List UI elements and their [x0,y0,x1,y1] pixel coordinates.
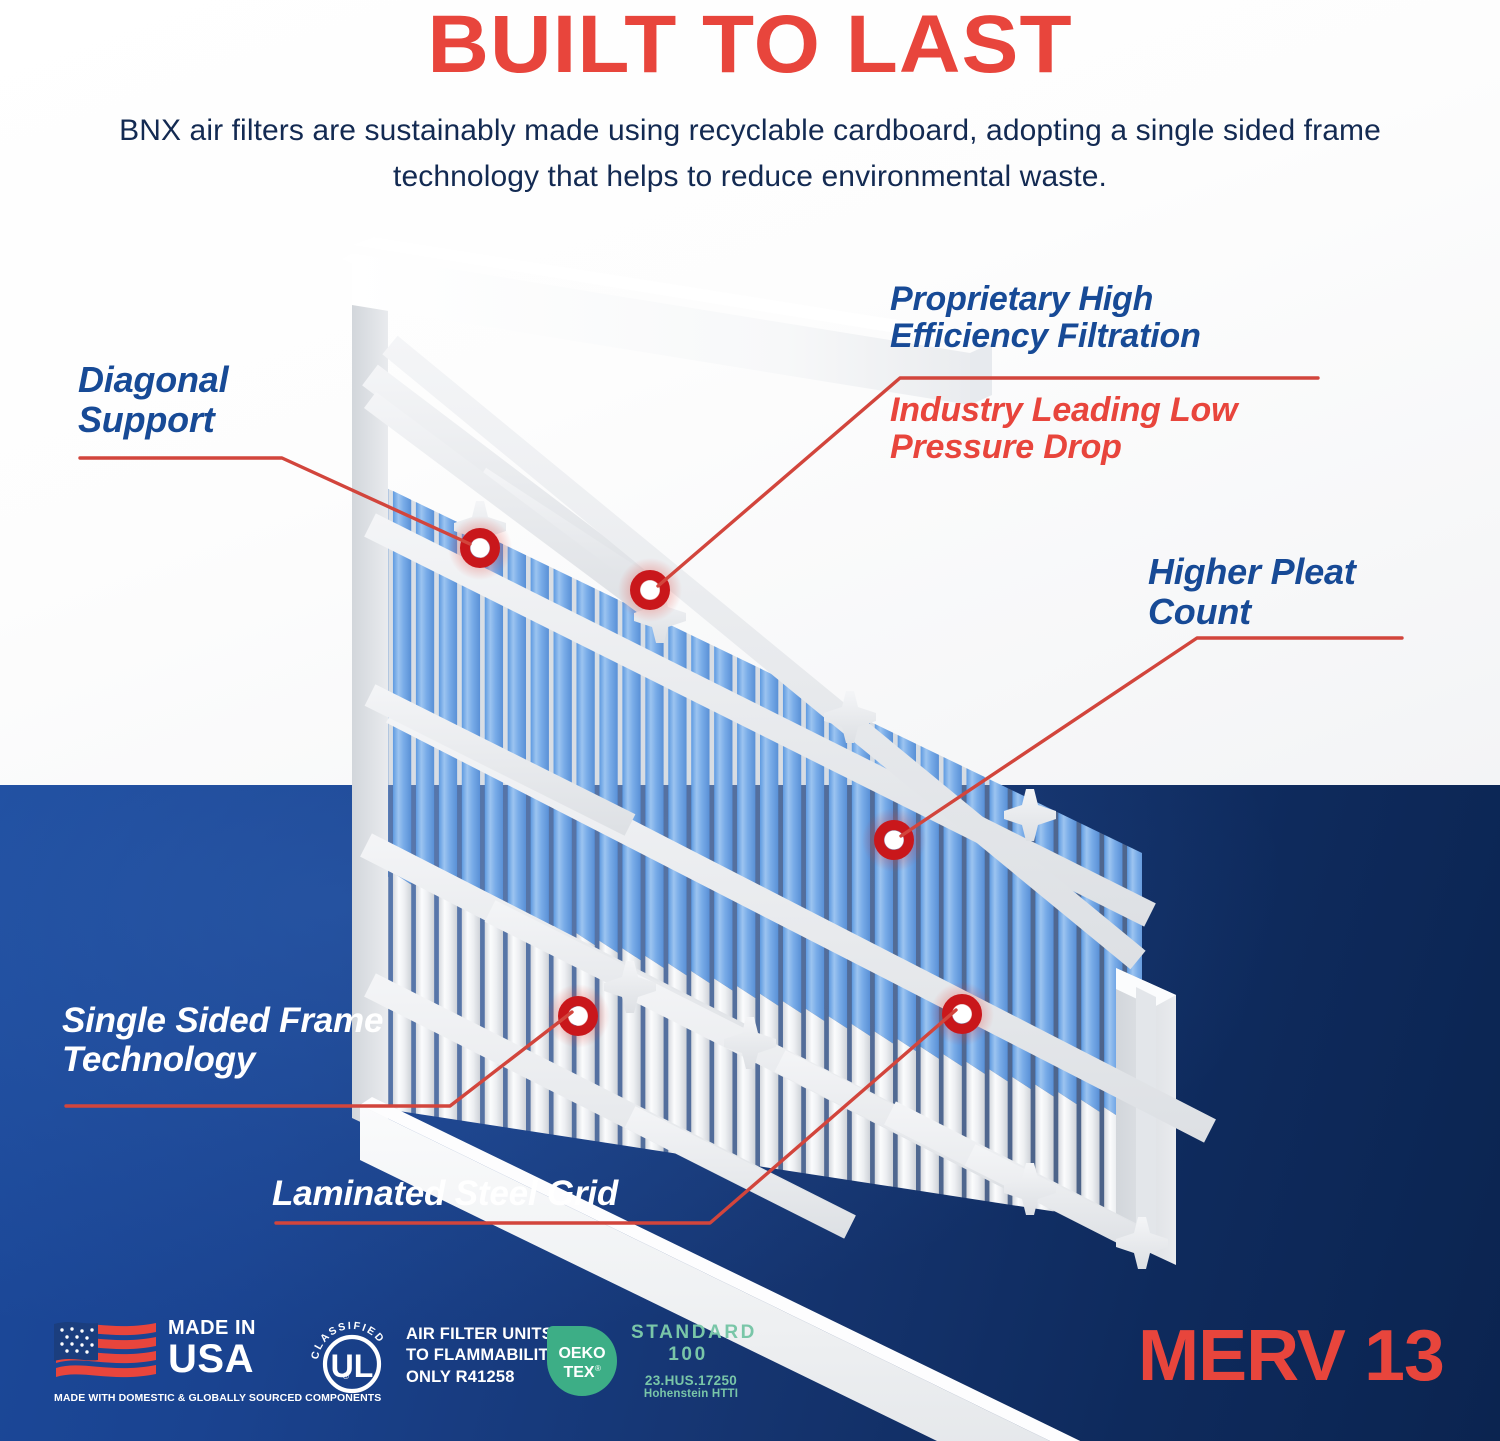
badge-made-in-usa: MADE IN USA MADE WITH DOMESTIC & GLOBALL… [52,1316,256,1382]
svg-text:TEX: TEX [563,1364,594,1381]
ul-classified-icon: CLASSIFIED UL ® [310,1314,394,1398]
pleat-valley [641,608,646,1254]
usa-label: USA [168,1340,256,1379]
svg-text:OEKO: OEKO [558,1345,605,1362]
pleat-valley [778,673,783,1316]
usa-flag-icon [52,1316,160,1382]
svg-text:UL: UL [331,1348,374,1384]
pleat-valley [457,521,462,1170]
pleat-valley [687,630,692,1275]
badge-ul-classified: CLASSIFIED UL ® AIR FILTER UNITS TO FLAM… [310,1314,560,1398]
oeko-standard-number: 100 [631,1344,757,1366]
pleat-valley [732,651,737,1295]
certification-footer: MADE IN USA MADE WITH DOMESTIC & GLOBALL… [0,1296,1500,1441]
callout-line-2: Support [78,400,228,440]
pleat-valley [664,619,669,1264]
pleat-valley [526,554,531,1202]
callout-line-2: Count [1148,592,1356,632]
callout-diagonal-support[interactable]: Diagonal Support [78,360,228,439]
ul-line-1: AIR FILTER UNITS [406,1324,560,1345]
svg-text:®: ® [343,1371,350,1381]
pleat-valley [503,543,508,1191]
callout-line-2: Technology [62,1041,383,1080]
header-subtitle: BNX air filters are sustainably made usi… [105,108,1395,199]
ul-line-2: TO FLAMMABILITY [406,1345,560,1366]
svg-text:®: ® [595,1364,601,1373]
product-illustration [330,225,1170,1290]
callout-line-2: Pressure Drop [890,429,1237,466]
callout-single-sided-frame[interactable]: Single Sided Frame Technology [62,1002,383,1079]
pleat-valley [480,532,485,1180]
badge-merv-rating: MERV 13 [1144,1320,1444,1392]
pleat-valley [434,511,439,1160]
pleat-valley [411,500,416,1150]
callout-higher-pleat-count[interactable]: Higher Pleat Count [1148,552,1356,631]
pleat-valley [710,641,715,1286]
callout-line-1: Industry Leading Low [890,392,1237,429]
infographic-stage: BUILT TO LAST BNX air filters are sustai… [0,0,1500,1441]
oeko-code: 23.HUS.17250 [631,1373,757,1388]
marker-laminated-steel-grid-center [953,1005,972,1024]
pleat-valley [572,576,577,1223]
callout-line-1: Higher Pleat [1148,552,1356,592]
ul-line-3: ONLY R41258 [406,1367,560,1388]
marker-high-efficiency-center [641,581,660,600]
callout-laminated-steel-grid[interactable]: Laminated Steel Grid [272,1175,618,1214]
oeko-tex-icon: OEKO TEX ® [545,1324,619,1398]
callout-line-1: Proprietary High [890,281,1201,318]
usa-made-in-label: MADE IN [168,1318,256,1338]
pleat-valley [618,597,623,1243]
pleat-valley [847,706,852,1348]
callout-low-pressure-drop[interactable]: Industry Leading Low Pressure Drop [890,392,1237,467]
callout-line-2: Efficiency Filtration [890,318,1201,355]
callout-line-1: Single Sided Frame [62,1002,383,1041]
badge-oeko-tex: OEKO TEX ® STANDARD 100 23.HUS.17250 Hoh… [545,1322,757,1400]
page-title: BUILT TO LAST [0,0,1500,86]
oeko-institute: Hohenstein HTTI [631,1388,757,1400]
merv-label: MERV 13 [1138,1320,1444,1392]
header: BUILT TO LAST BNX air filters are sustai… [0,0,1500,199]
pleat-valley [595,586,600,1232]
marker-single-sided-frame-center [569,1007,588,1026]
pleat-valley [755,662,760,1306]
callout-high-efficiency[interactable]: Proprietary High Efficiency Filtration [890,281,1201,356]
callout-line-1: Laminated Steel Grid [272,1175,618,1214]
pleat-valley [549,565,554,1212]
pleat-white-segment [806,1009,824,1335]
pleat-valley [801,684,806,1327]
pleat-valley [388,489,393,1139]
oeko-standard-label: STANDARD [631,1322,757,1344]
marker-higher-pleat-count-center [885,831,904,850]
marker-diagonal-support-center [471,539,490,558]
pleat-valley [824,695,829,1338]
callout-line-1: Diagonal [78,360,228,400]
pleat-valley [870,716,875,1358]
